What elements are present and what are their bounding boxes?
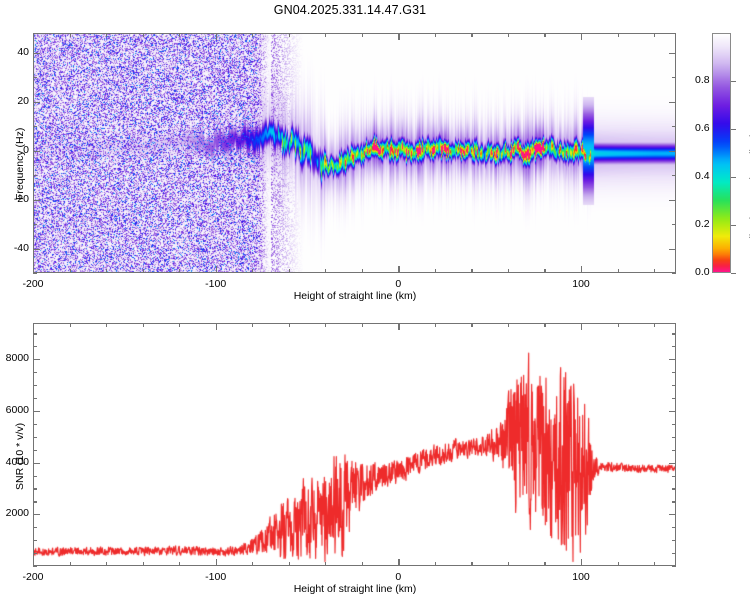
y-tick-label: 8000 [0, 352, 29, 364]
x-major-tick-top [216, 323, 217, 330]
x-minor-tick [544, 269, 545, 273]
x-minor-tick [362, 269, 363, 273]
y-minor-tick-right [672, 333, 676, 334]
x-major-tick-top [398, 33, 399, 40]
x-minor-tick-top [435, 323, 436, 327]
y-major-tick-right [669, 249, 676, 250]
y-tick-label: 20 [0, 95, 29, 107]
x-minor-tick [435, 269, 436, 273]
x-minor-tick [508, 562, 509, 566]
spectrogram-frame [33, 33, 676, 273]
x-minor-tick [471, 269, 472, 273]
x-minor-tick-top [544, 33, 545, 37]
y-minor-tick-right [672, 437, 676, 438]
y-tick-label: 6000 [0, 404, 29, 416]
y-minor-tick [33, 224, 37, 225]
x-minor-tick [362, 562, 363, 566]
x-minor-tick [106, 562, 107, 566]
y-minor-tick [33, 126, 37, 127]
x-minor-tick [179, 269, 180, 273]
y-minor-tick [33, 398, 37, 399]
x-major-tick [216, 559, 217, 566]
spectrogram-ylabel: Frequency (Hz) [14, 128, 26, 200]
x-minor-tick-top [435, 33, 436, 37]
colorbar [712, 33, 731, 273]
x-minor-tick-top [179, 33, 180, 37]
y-minor-tick-right [672, 476, 676, 477]
colorbar-tick [731, 129, 736, 130]
x-minor-tick-top [508, 33, 509, 37]
x-minor-tick [252, 269, 253, 273]
x-minor-tick [325, 269, 326, 273]
x-minor-tick-top [544, 323, 545, 327]
y-minor-tick [33, 385, 37, 386]
x-minor-tick-top [289, 33, 290, 37]
x-tick-label: 100 [541, 571, 621, 583]
y-major-tick-right [669, 102, 676, 103]
colorbar-tick-label: 0.6 [695, 122, 709, 134]
y-major-tick-right [669, 200, 676, 201]
x-major-tick [33, 266, 34, 273]
x-major-tick [581, 266, 582, 273]
y-minor-tick [33, 77, 37, 78]
y-major-tick-right [669, 463, 676, 464]
x-tick-label: -200 [0, 278, 73, 290]
y-minor-tick-right [672, 450, 676, 451]
x-minor-tick [143, 562, 144, 566]
snr-xlabel: Height of straight line (km) [255, 583, 455, 595]
y-minor-tick [33, 346, 37, 347]
x-major-tick-top [581, 323, 582, 330]
x-tick-label: 0 [358, 278, 438, 290]
y-minor-tick [33, 566, 37, 567]
x-minor-tick [70, 269, 71, 273]
x-minor-tick [289, 562, 290, 566]
y-minor-tick-right [672, 398, 676, 399]
y-minor-tick-right [672, 527, 676, 528]
x-minor-tick-top [471, 323, 472, 327]
x-major-tick [33, 559, 34, 566]
y-tick-label: 40 [0, 46, 29, 58]
x-minor-tick [654, 562, 655, 566]
spectrogram-xlabel: Height of straight line (km) [255, 290, 455, 302]
y-minor-tick [33, 527, 37, 528]
figure-title: GN04.2025.331.14.47.G31 [0, 3, 700, 17]
x-minor-tick [508, 269, 509, 273]
y-minor-tick-right [672, 540, 676, 541]
x-major-tick-top [216, 33, 217, 40]
snr-frame [33, 323, 676, 566]
x-minor-tick-top [325, 323, 326, 327]
x-minor-tick [106, 269, 107, 273]
x-minor-tick-top [325, 33, 326, 37]
x-major-tick-top [398, 323, 399, 330]
y-major-tick [33, 359, 40, 360]
y-major-tick [33, 200, 40, 201]
x-minor-tick-top [252, 33, 253, 37]
y-minor-tick [33, 424, 37, 425]
x-minor-tick [618, 562, 619, 566]
colorbar-tick-label: 0.8 [695, 74, 709, 86]
figure-root: GN04.2025.331.14.47.G31 -200-1000100-40-… [0, 0, 750, 600]
x-tick-label: 0 [358, 571, 438, 583]
y-major-tick [33, 411, 40, 412]
y-minor-tick-right [672, 175, 676, 176]
x-minor-tick [179, 562, 180, 566]
y-minor-tick [33, 540, 37, 541]
x-minor-tick [325, 562, 326, 566]
x-minor-tick-top [143, 33, 144, 37]
x-minor-tick-top [654, 323, 655, 327]
x-major-tick [581, 559, 582, 566]
x-tick-label: 100 [541, 278, 621, 290]
x-minor-tick-top [179, 323, 180, 327]
x-minor-tick-top [70, 323, 71, 327]
x-minor-tick-top [106, 323, 107, 327]
colorbar-tick-label: 0.4 [695, 170, 709, 182]
x-minor-tick-top [106, 33, 107, 37]
snr-ylabel: SNR (10 * v/v) [14, 423, 26, 490]
y-minor-tick [33, 476, 37, 477]
x-major-tick [216, 266, 217, 273]
y-tick-label: 2000 [0, 507, 29, 519]
x-major-tick [398, 559, 399, 566]
colorbar-tick-label: 0.0 [695, 266, 709, 278]
colorbar-tick [731, 81, 736, 82]
y-minor-tick [33, 501, 37, 502]
y-tick-label: -40 [0, 242, 29, 254]
x-minor-tick [435, 562, 436, 566]
y-major-tick [33, 53, 40, 54]
y-minor-tick-right [672, 553, 676, 554]
y-major-tick [33, 102, 40, 103]
x-minor-tick [654, 269, 655, 273]
y-minor-tick [33, 273, 37, 274]
x-minor-tick-top [654, 33, 655, 37]
y-minor-tick [33, 437, 37, 438]
colorbar-gradient [713, 34, 730, 272]
x-minor-tick [143, 269, 144, 273]
x-minor-tick [544, 562, 545, 566]
y-major-tick [33, 514, 40, 515]
y-major-tick-right [669, 514, 676, 515]
y-minor-tick-right [672, 501, 676, 502]
y-minor-tick [33, 372, 37, 373]
x-major-tick-top [581, 33, 582, 40]
y-minor-tick-right [672, 273, 676, 274]
y-major-tick-right [669, 53, 676, 54]
x-minor-tick-top [143, 323, 144, 327]
y-minor-tick [33, 553, 37, 554]
y-major-tick-right [669, 411, 676, 412]
colorbar-tick [731, 273, 736, 274]
y-minor-tick [33, 450, 37, 451]
x-minor-tick-top [618, 33, 619, 37]
y-minor-tick-right [672, 566, 676, 567]
y-minor-tick [33, 333, 37, 334]
y-major-tick [33, 249, 40, 250]
colorbar-tick [731, 177, 736, 178]
x-minor-tick [618, 269, 619, 273]
x-minor-tick-top [362, 323, 363, 327]
x-minor-tick-top [471, 33, 472, 37]
y-minor-tick-right [672, 224, 676, 225]
y-minor-tick-right [672, 346, 676, 347]
y-minor-tick [33, 175, 37, 176]
y-minor-tick-right [672, 488, 676, 489]
colorbar-tick-label: 0.2 [695, 218, 709, 230]
x-tick-label: -200 [0, 571, 73, 583]
colorbar-tick [731, 225, 736, 226]
y-major-tick [33, 151, 40, 152]
y-minor-tick-right [672, 424, 676, 425]
x-major-tick-top [33, 33, 34, 40]
x-major-tick [398, 266, 399, 273]
x-minor-tick [252, 562, 253, 566]
x-minor-tick-top [618, 323, 619, 327]
y-minor-tick [33, 488, 37, 489]
x-minor-tick-top [252, 323, 253, 327]
y-major-tick-right [669, 151, 676, 152]
x-minor-tick-top [289, 323, 290, 327]
x-tick-label: -100 [176, 571, 256, 583]
y-minor-tick-right [672, 77, 676, 78]
x-minor-tick [289, 269, 290, 273]
x-minor-tick [70, 562, 71, 566]
y-minor-tick-right [672, 372, 676, 373]
y-major-tick-right [669, 359, 676, 360]
x-minor-tick-top [508, 323, 509, 327]
y-minor-tick-right [672, 385, 676, 386]
x-minor-tick-top [362, 33, 363, 37]
x-minor-tick-top [70, 33, 71, 37]
y-minor-tick-right [672, 126, 676, 127]
x-major-tick-top [33, 323, 34, 330]
x-minor-tick [471, 562, 472, 566]
y-major-tick [33, 463, 40, 464]
x-tick-label: -100 [176, 278, 256, 290]
